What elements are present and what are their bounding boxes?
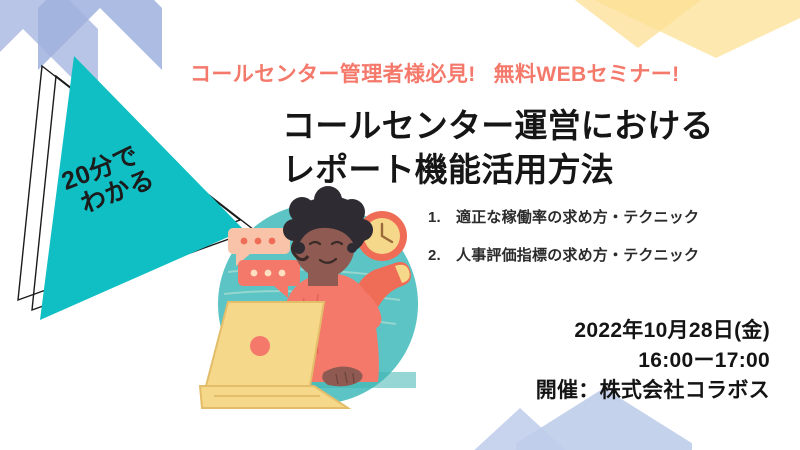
schedule-host: 開催：株式会社コラボス — [536, 376, 770, 406]
callcenter-agent-illustration — [196, 186, 446, 426]
title-line-1: コールセンター運営における — [282, 104, 772, 148]
list-item: 2. 人事評価指標の求め方・テクニック — [428, 244, 778, 265]
list-item-number: 1. — [428, 209, 456, 226]
kicker-part2: 無料WEBセミナー! — [494, 63, 680, 86]
list-item-label: 適正な稼働率の求め方・テクニック — [456, 206, 699, 227]
title-line-2: レポート機能活用方法 — [282, 148, 772, 192]
kicker-text: コールセンター管理者様必見!無料WEBセミナー! — [190, 58, 770, 88]
schedule-date: 2022年10月28日(金) — [536, 316, 770, 346]
list-item: 1. 適正な稼働率の求め方・テクニック — [428, 206, 778, 227]
webinar-banner: 20分で わかる — [0, 0, 800, 450]
page-title: コールセンター運営における レポート機能活用方法 — [282, 104, 772, 192]
agenda-list: 1. 適正な稼働率の求め方・テクニック 2. 人事評価指標の求め方・テクニック — [428, 206, 778, 282]
schedule-block: 2022年10月28日(金) 16:00ー17:00 開催：株式会社コラボス — [536, 316, 770, 405]
list-item-label: 人事評価指標の求め方・テクニック — [456, 244, 699, 265]
list-item-number: 2. — [428, 247, 456, 264]
kicker-part1: コールセンター管理者様必見! — [190, 63, 476, 86]
laptop-logo — [250, 336, 270, 356]
schedule-time: 16:00ー17:00 — [536, 346, 770, 376]
